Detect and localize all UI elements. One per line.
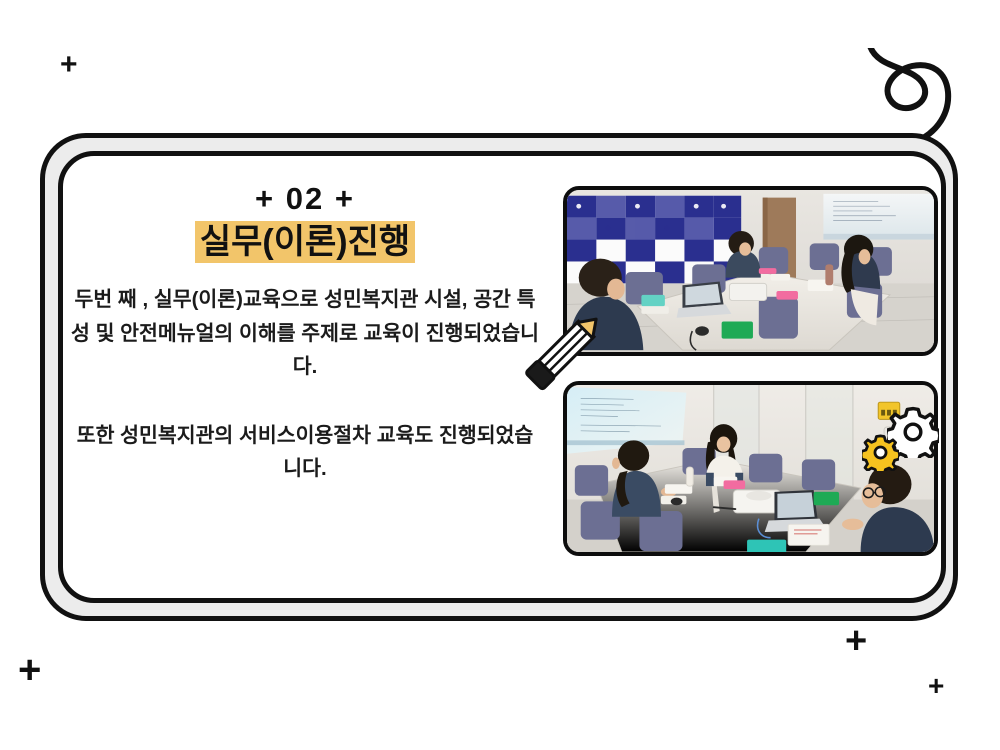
- plus-mark-bottom-right-small: +: [928, 672, 944, 700]
- text-column: + 02 + 실무(이론)진행 두번 째 , 실무(이론)교육으로 성민복지관 …: [70, 182, 540, 486]
- section-number: + 02 +: [70, 182, 540, 216]
- body-paragraph-2: 또한 성민복지관의 서비스이용절차 교육도 진행되었습니다.: [70, 419, 540, 485]
- photo-top-artwork: [567, 190, 934, 352]
- plus-mark-bottom-right-large: +: [845, 622, 867, 660]
- plus-mark-top-left: +: [60, 50, 78, 80]
- photo-bottom-artwork: [567, 385, 934, 552]
- body-paragraph-1: 두번 째 , 실무(이론)교육으로 성민복지관 시설, 공간 특성 및 안전메뉴…: [70, 283, 540, 383]
- photo-meeting-room-top: [563, 186, 938, 356]
- headline-wrapper: 실무(이론)진행: [70, 224, 540, 261]
- photo-meeting-room-bottom: [563, 381, 938, 556]
- slide-canvas: + + + + + 02 + 실무(이론)진행 두번 째 , 실무(이론)교육으…: [0, 0, 1000, 750]
- page-title: 실무(이론)진행: [195, 221, 415, 263]
- plus-mark-bottom-left: +: [18, 650, 41, 690]
